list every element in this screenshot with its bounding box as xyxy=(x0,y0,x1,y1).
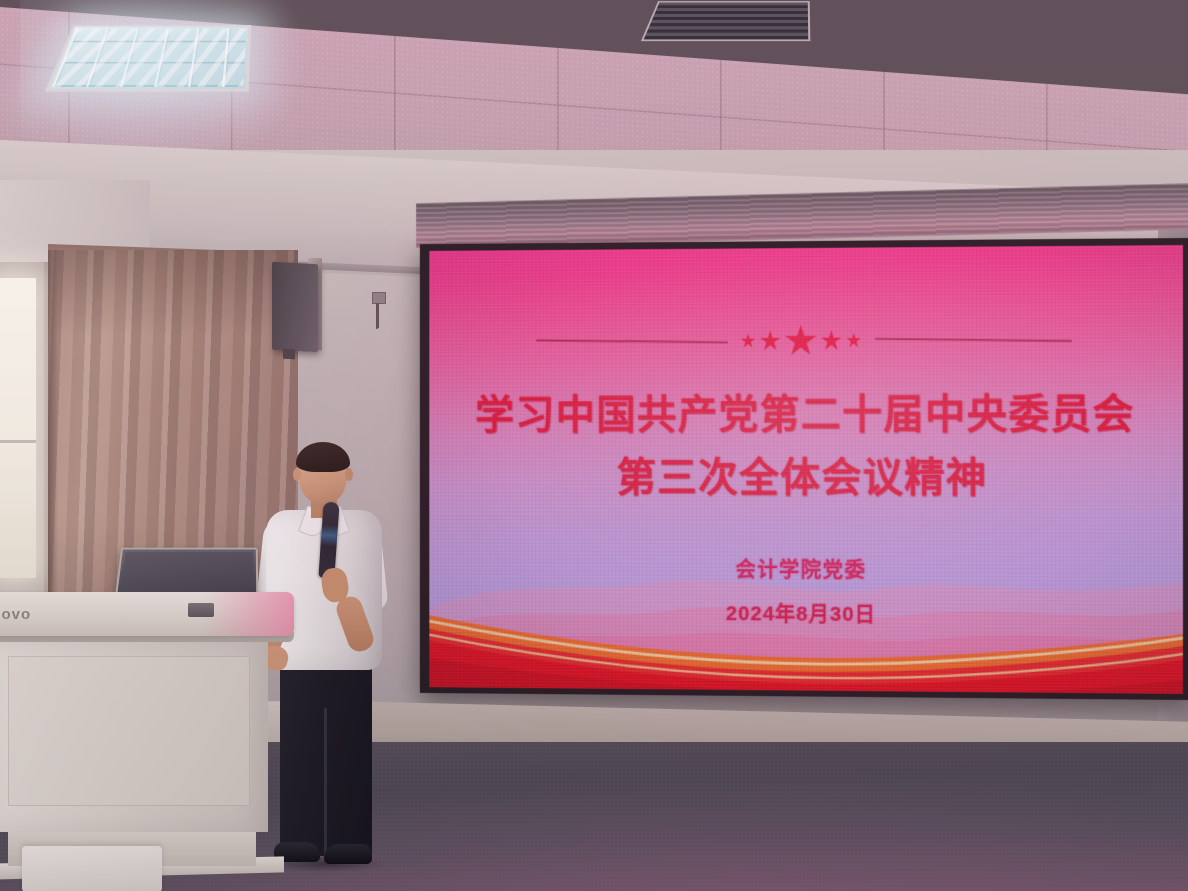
curtain-edge xyxy=(48,250,58,640)
window-mullion xyxy=(0,440,36,443)
led-screen: 学习中国共产党第二十届中央委员会 第三次全体会议精神 会计学院党委 2024年8… xyxy=(416,196,1188,710)
floor-box xyxy=(22,846,162,891)
podium-brand-label: enovo xyxy=(0,606,31,623)
wall-fixture-cable xyxy=(376,303,380,329)
podium: enovo xyxy=(0,592,294,872)
podium-front-panel xyxy=(8,656,250,806)
conference-room-scene: 学习中国共产党第二十届中央委员会 第三次全体会议精神 会计学院党委 2024年8… xyxy=(0,0,1188,891)
wall-speaker xyxy=(272,262,318,352)
window-frame xyxy=(0,262,48,592)
presenter-shoe-right xyxy=(324,844,372,864)
podium-control-button[interactable] xyxy=(188,603,214,617)
podium-top-surface: enovo xyxy=(0,592,294,636)
podium-light-spill xyxy=(202,592,294,636)
fluorescent-light-panel xyxy=(45,25,251,92)
presenter-ear-right xyxy=(345,468,353,481)
podium-monitor-screen xyxy=(120,552,253,595)
window-glass xyxy=(0,278,36,578)
presenter-ear-left xyxy=(293,468,301,481)
screen-frame: 学习中国共产党第二十届中央委员会 第三次全体会议精神 会计学院党委 2024年8… xyxy=(420,238,1188,700)
presenter-leg-seam xyxy=(324,708,327,856)
air-vent-grille xyxy=(641,1,810,41)
slide-canvas: 学习中国共产党第二十届中央委员会 第三次全体会议精神 会计学院党委 2024年8… xyxy=(429,245,1183,694)
speaker-mount xyxy=(283,349,295,360)
presenter-hair xyxy=(296,442,350,472)
screen-pixel-grid xyxy=(429,245,1183,694)
